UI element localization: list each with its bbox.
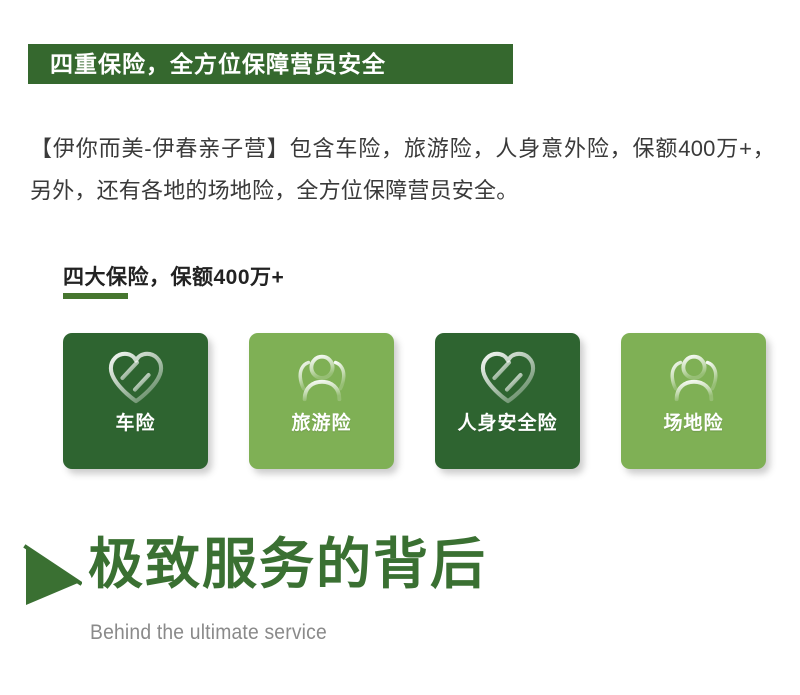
people-group-icon xyxy=(663,349,725,405)
section-banner: 四重保险，全方位保障营员安全 xyxy=(28,44,513,84)
insurance-card-label: 旅游险 xyxy=(291,414,351,435)
insurance-card-label: 车险 xyxy=(115,414,155,435)
insurance-card-list: 车险 旅游险 xyxy=(63,333,768,469)
insurance-card-vehicle[interactable]: 车险 xyxy=(63,333,208,469)
intro-paragraph: 【伊你而美-伊春亲子营】包含车险，旅游险，人身意外险，保额400万+，另外，还有… xyxy=(30,128,775,212)
people-group-icon xyxy=(291,349,353,405)
bottom-headline-title: 极致服务的背后 xyxy=(88,536,487,594)
insurance-card-label: 人身安全险 xyxy=(457,414,557,435)
subheading-underline xyxy=(63,293,128,299)
poster-page: 四重保险，全方位保障营员安全 【伊你而美-伊春亲子营】包含车险，旅游险，人身意外… xyxy=(0,0,800,695)
subheading-block: 四大保险，保额400万+ xyxy=(63,264,284,292)
insurance-card-personal-safety[interactable]: 人身安全险 xyxy=(435,333,580,469)
heart-icon xyxy=(477,349,539,405)
insurance-card-travel[interactable]: 旅游险 xyxy=(249,333,394,469)
banner-title: 四重保险，全方位保障营员安全 xyxy=(50,53,386,76)
subheading-text: 四大保险，保额400万+ xyxy=(63,264,284,292)
insurance-card-venue[interactable]: 场地险 xyxy=(621,333,766,469)
section-bottom-headline: 极致服务的背后 Behind the ultimate service xyxy=(0,528,800,658)
bottom-headline-subtitle: Behind the ultimate service xyxy=(90,620,327,645)
heart-icon xyxy=(105,349,167,405)
play-triangle-icon xyxy=(22,543,82,609)
insurance-card-label: 场地险 xyxy=(663,414,723,435)
